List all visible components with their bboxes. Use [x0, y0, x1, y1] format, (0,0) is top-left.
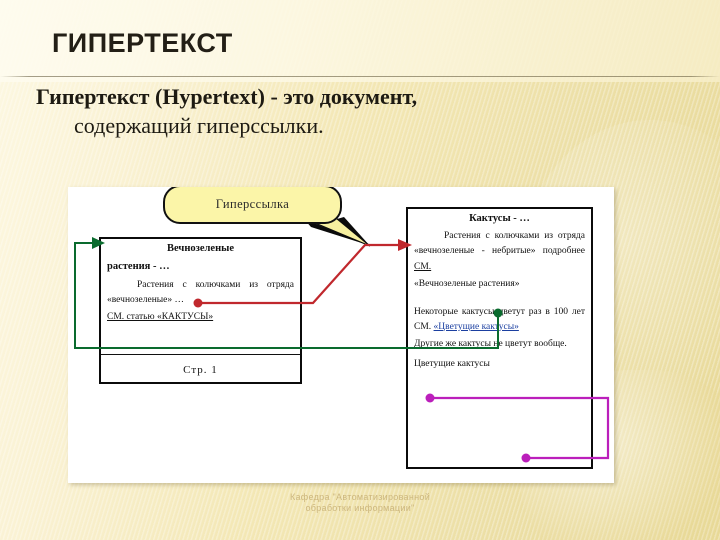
document-card-left: Вечнозеленые растения - … Растения с кол… — [99, 237, 302, 384]
document-right-paragraph-4: Другие же кактусы не цветут вообще. — [414, 337, 585, 352]
document-right-link-flowering-cacti[interactable]: «Цветущие кактусы» — [434, 322, 519, 332]
document-right-paragraph-1-text: Растения с колючками из отряда «вечнозел… — [414, 231, 585, 256]
page-title: ГИПЕРТЕКСТ — [52, 28, 233, 59]
document-left-paragraph-1: Растения с колючками из отряда «вечнозел… — [107, 278, 294, 309]
document-left-footer-divider — [101, 354, 300, 355]
slide-footer-line-2: обработки информации" — [0, 503, 720, 514]
diagram-canvas: Гиперссылка Вечнозеленые растения - … Ра… — [68, 187, 614, 483]
hyperlink-callout-label: Гиперссылка — [216, 197, 290, 212]
slide-footer: Кафедра "Автоматизированной обработки ин… — [0, 492, 720, 515]
document-card-right: Кактусы - … Растения с колючками из отря… — [406, 207, 593, 469]
slide-root: ГИПЕРТЕКСТ Гипертекст (Hypertext) - это … — [0, 0, 720, 540]
document-right-paragraph-3: Некоторые кактусы цветут раз в 100 лет С… — [414, 305, 585, 336]
subtitle-line-2: содержащий гиперссылки. — [36, 111, 676, 140]
document-right-body: Кактусы - … Растения с колючками из отря… — [408, 209, 591, 372]
document-left-title-line-2: растения - … — [107, 261, 294, 272]
document-right-title: Кактусы - … — [414, 213, 585, 224]
document-left-page-label: Стр. 1 — [101, 364, 300, 376]
document-left-title-line-1: Вечнозеленые — [107, 243, 294, 254]
subtitle-block: Гипертекст (Hypertext) - это документ, с… — [36, 82, 676, 141]
document-left-body: Вечнозеленые растения - … Растения с кол… — [101, 239, 300, 325]
subtitle-line-1: Гипертекст (Hypertext) - это документ, — [36, 82, 676, 111]
document-right-anchor-flowering-cacti[interactable]: Цветущие кактусы — [414, 357, 585, 372]
slide-footer-line-1: Кафедра "Автоматизированной — [0, 492, 720, 503]
document-right-paragraph-1: Растения с колючками из отряда «вечнозел… — [414, 229, 585, 275]
hyperlink-callout: Гиперссылка — [163, 187, 342, 224]
title-divider — [0, 76, 720, 77]
document-left-link-kaktusy[interactable]: СМ. статью «КАКТУСЫ» — [107, 310, 294, 325]
document-right-paragraph-2: «Вечнозеленые растения» — [414, 277, 585, 292]
document-right-link-sm[interactable]: СМ. — [414, 262, 431, 272]
